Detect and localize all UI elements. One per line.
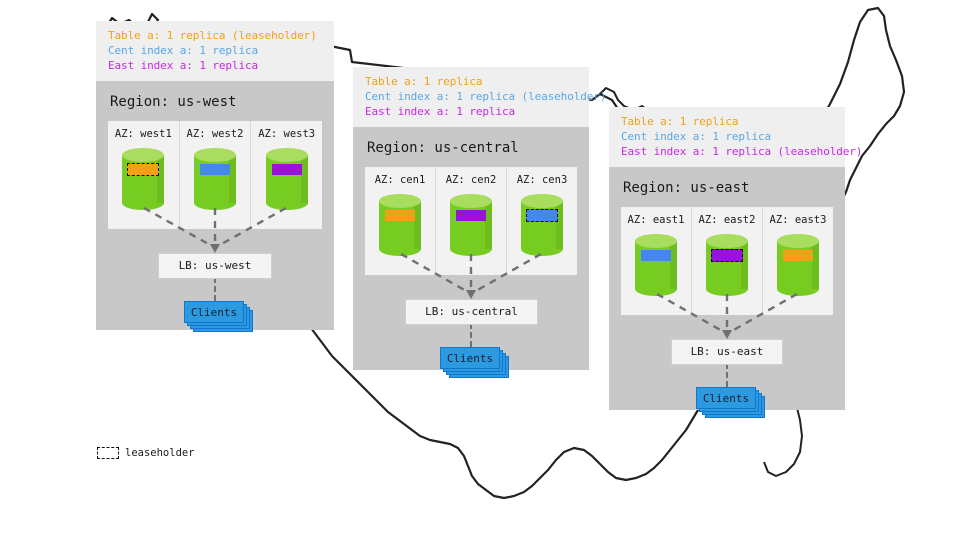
header-line-table: Table a: 1 replica (leaseholder) [108, 29, 322, 44]
region-title-us-west: Region: us-west [96, 81, 334, 121]
cylinder-shade [414, 201, 421, 249]
legend: leaseholder [97, 447, 195, 459]
az-label-west3: AZ: west3 [258, 128, 315, 140]
replica-bar-cent-index-a-leaseholder [526, 209, 558, 222]
header-line-east: East index a: 1 replica [365, 105, 577, 120]
replica-bar-table-a [783, 250, 813, 261]
region-title-us-east: Region: us-east [609, 167, 845, 207]
az-label-cen3: AZ: cen3 [517, 174, 568, 186]
header-line-table: Table a: 1 replica [365, 75, 577, 90]
clients-box-us-central[interactable]: Clients [440, 347, 500, 369]
region-panel-us-east[interactable]: Table a: 1 replica Cent index a: 1 repli… [609, 107, 845, 410]
cylinder-shade [301, 155, 308, 203]
load-balancer-us-east[interactable]: LB: us-east [671, 339, 783, 365]
cylinder-top [194, 148, 236, 162]
az-label-east2: AZ: east2 [699, 214, 756, 226]
db-cylinder-cen1[interactable] [379, 194, 421, 256]
replica-bar-east-index-a [456, 210, 486, 221]
db-cylinder-east1[interactable] [635, 234, 677, 296]
az-cell-cen1[interactable]: AZ: cen1 [365, 167, 436, 275]
header-line-cent: Cent index a: 1 replica (leaseholder) [365, 90, 577, 105]
replica-bar-cent-index-a [200, 164, 230, 175]
cylinder-top [777, 234, 819, 248]
az-cell-west2[interactable]: AZ: west2 [180, 121, 252, 229]
az-label-east1: AZ: east1 [628, 214, 685, 226]
cylinder-top [521, 194, 563, 208]
lb-to-clients-line-us-central [470, 323, 472, 347]
region-header-us-west: Table a: 1 replica (leaseholder) Cent in… [96, 21, 334, 81]
region-header-us-central: Table a: 1 replica Cent index a: 1 repli… [353, 67, 589, 127]
cylinder-top [122, 148, 164, 162]
cylinder-top [266, 148, 308, 162]
cylinder-top [635, 234, 677, 248]
db-cylinder-cen2[interactable] [450, 194, 492, 256]
cylinder-shade [812, 241, 819, 289]
az-label-cen2: AZ: cen2 [446, 174, 497, 186]
connector-arrowhead [466, 290, 476, 299]
cylinder-shade [229, 155, 236, 203]
leaseholder-swatch-icon [97, 447, 119, 459]
clients-group-us-east[interactable]: Clients [696, 387, 766, 419]
replica-bar-east-index-a-leaseholder [711, 249, 743, 262]
db-cylinder-east2[interactable] [706, 234, 748, 296]
lb-to-clients-line-us-west [214, 277, 216, 301]
replica-bar-east-index-a [272, 164, 302, 175]
az-cell-east3[interactable]: AZ: east3 [763, 207, 833, 315]
az-strip-us-central: AZ: cen1 AZ: cen2 AZ: cen3 [365, 167, 577, 275]
clients-box-us-west[interactable]: Clients [184, 301, 244, 323]
az-cell-west1[interactable]: AZ: west1 [108, 121, 180, 229]
db-cylinder-cen3[interactable] [521, 194, 563, 256]
cylinder-top [379, 194, 421, 208]
az-label-east3: AZ: east3 [770, 214, 827, 226]
clients-group-us-west[interactable]: Clients [184, 301, 254, 333]
az-label-west2: AZ: west2 [187, 128, 244, 140]
az-cell-cen2[interactable]: AZ: cen2 [436, 167, 507, 275]
cylinder-shade [485, 201, 492, 249]
az-cell-west3[interactable]: AZ: west3 [251, 121, 322, 229]
az-label-west1: AZ: west1 [115, 128, 172, 140]
header-line-table: Table a: 1 replica [621, 115, 833, 130]
region-header-us-east: Table a: 1 replica Cent index a: 1 repli… [609, 107, 845, 167]
lb-to-clients-line-us-east [726, 363, 728, 387]
cylinder-top [706, 234, 748, 248]
cylinder-top [450, 194, 492, 208]
az-strip-us-west: AZ: west1 AZ: west2 AZ: west3 [108, 121, 322, 229]
db-cylinder-west2[interactable] [194, 148, 236, 210]
load-balancer-us-central[interactable]: LB: us-central [405, 299, 538, 325]
clients-group-us-central[interactable]: Clients [440, 347, 510, 379]
region-panel-us-central[interactable]: Table a: 1 replica Cent index a: 1 repli… [353, 67, 589, 370]
clients-box-us-east[interactable]: Clients [696, 387, 756, 409]
legend-label: leaseholder [125, 447, 195, 459]
az-cell-cen3[interactable]: AZ: cen3 [507, 167, 577, 275]
replica-bar-table-a [385, 210, 415, 221]
az-cell-east1[interactable]: AZ: east1 [621, 207, 692, 315]
region-title-us-central: Region: us-central [353, 127, 589, 167]
db-cylinder-west3[interactable] [266, 148, 308, 210]
load-balancer-us-west[interactable]: LB: us-west [158, 253, 272, 279]
header-line-cent: Cent index a: 1 replica [621, 130, 833, 145]
header-line-east: East index a: 1 replica [108, 59, 322, 74]
az-cell-east2[interactable]: AZ: east2 [692, 207, 763, 315]
az-label-cen1: AZ: cen1 [375, 174, 426, 186]
db-cylinder-west1[interactable] [122, 148, 164, 210]
header-line-east: East index a: 1 replica (leaseholder) [621, 145, 833, 160]
replica-bar-cent-index-a [641, 250, 671, 261]
header-line-cent: Cent index a: 1 replica [108, 44, 322, 59]
cylinder-shade [670, 241, 677, 289]
db-cylinder-east3[interactable] [777, 234, 819, 296]
replica-bar-table-a-leaseholder [127, 163, 159, 176]
az-strip-us-east: AZ: east1 AZ: east2 AZ: east3 [621, 207, 833, 315]
region-panel-us-west[interactable]: Table a: 1 replica (leaseholder) Cent in… [96, 21, 334, 330]
connector-arrowhead [210, 244, 220, 253]
connector-arrowhead [722, 330, 732, 339]
